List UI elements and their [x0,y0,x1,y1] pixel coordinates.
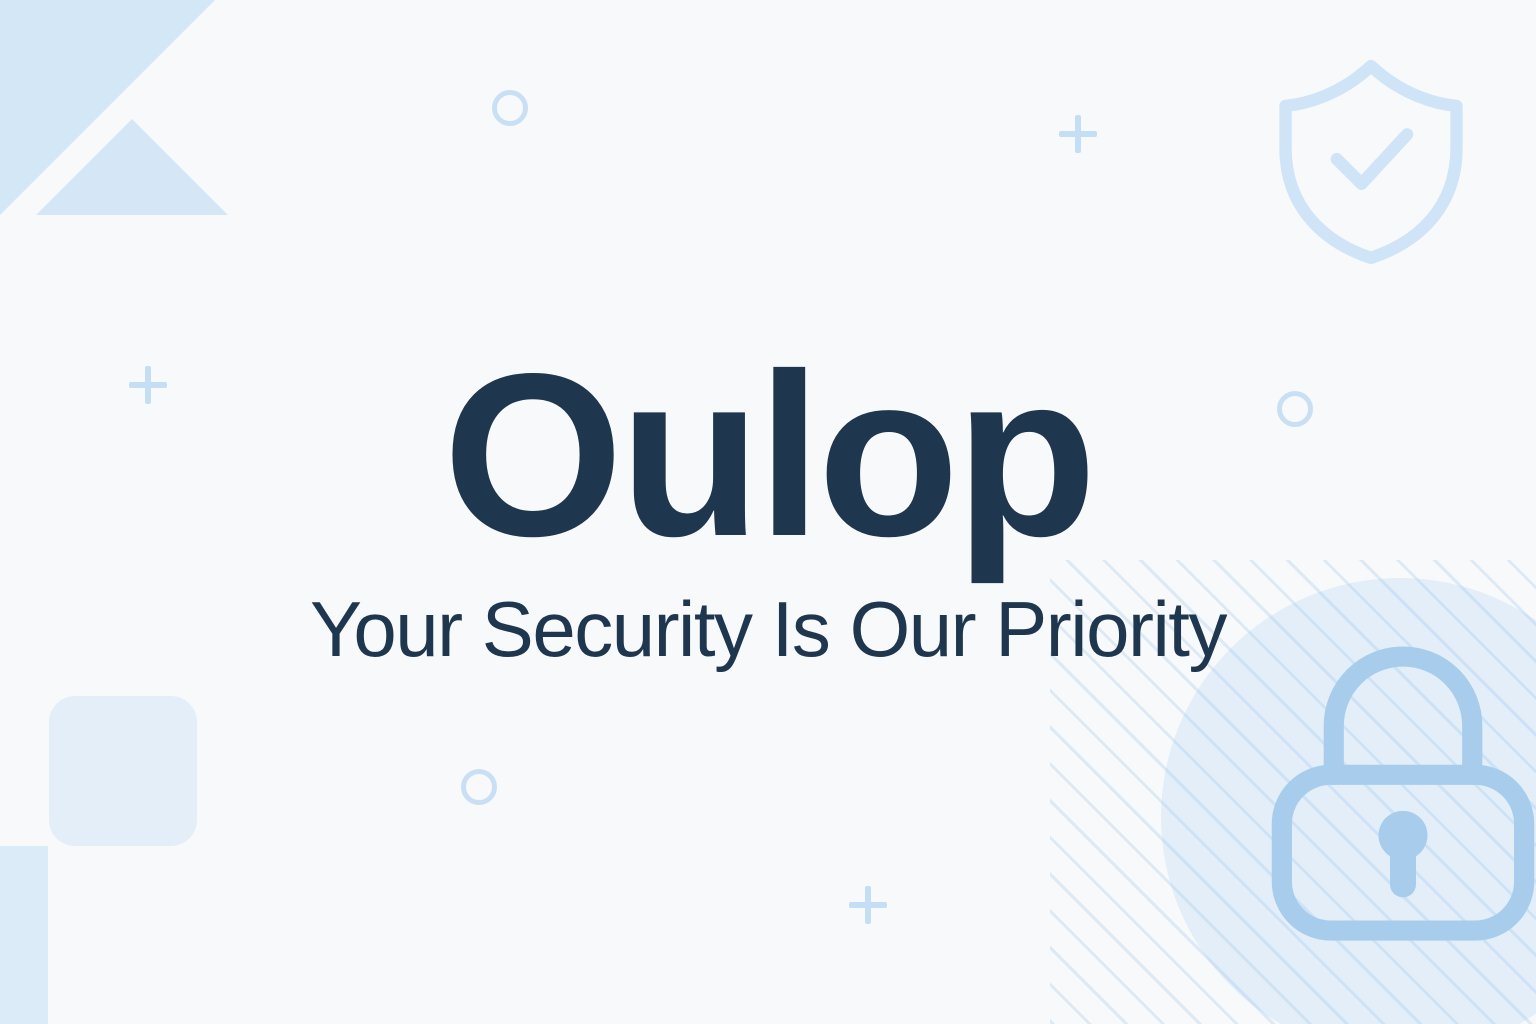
hero-banner: Oulop Your Security Is Our Priority [0,0,1536,1024]
hero-content: Oulop Your Security Is Our Priority [0,0,1536,1024]
page-title: Oulop [443,356,1093,556]
page-tagline: Your Security Is Our Priority [310,590,1226,668]
